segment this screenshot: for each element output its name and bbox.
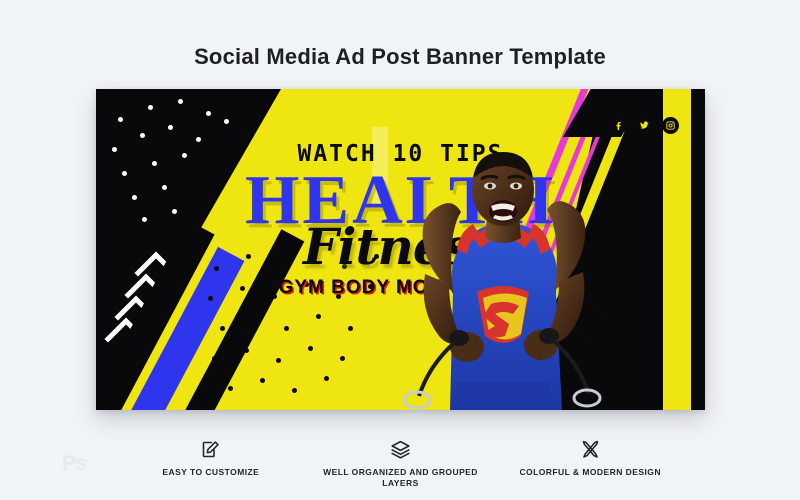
crossed-tools-icon [495,437,685,461]
social-icon-group [610,117,679,134]
instagram-icon[interactable] [662,117,679,134]
photoshop-watermark: Ps [62,452,86,476]
feature-item: EASY TO CUSTOMIZE [116,437,306,478]
feature-row: EASY TO CUSTOMIZE WELL ORGANIZED AND GRO… [96,437,705,493]
banner-preview[interactable]: WATCH 10 TIPS HEALTH Fitness GYM BODY MO… [96,89,705,410]
layers-icon [306,437,496,461]
feature-label: EASY TO CUSTOMIZE [116,467,306,478]
edit-square-icon [116,437,306,461]
feature-item: WELL ORGANIZED AND GROUPED LAYERS [306,437,496,490]
facebook-icon[interactable] [610,117,627,134]
feature-label: WELL ORGANIZED AND GROUPED LAYERS [306,467,496,490]
banner-canvas: WATCH 10 TIPS HEALTH Fitness GYM BODY MO… [96,89,705,410]
feature-label: COLORFUL & MODERN DESIGN [495,467,685,478]
page-title: Social Media Ad Post Banner Template [0,44,800,70]
feature-item: COLORFUL & MODERN DESIGN [495,437,685,478]
twitter-icon[interactable] [636,117,653,134]
athlete-photo [395,142,610,410]
